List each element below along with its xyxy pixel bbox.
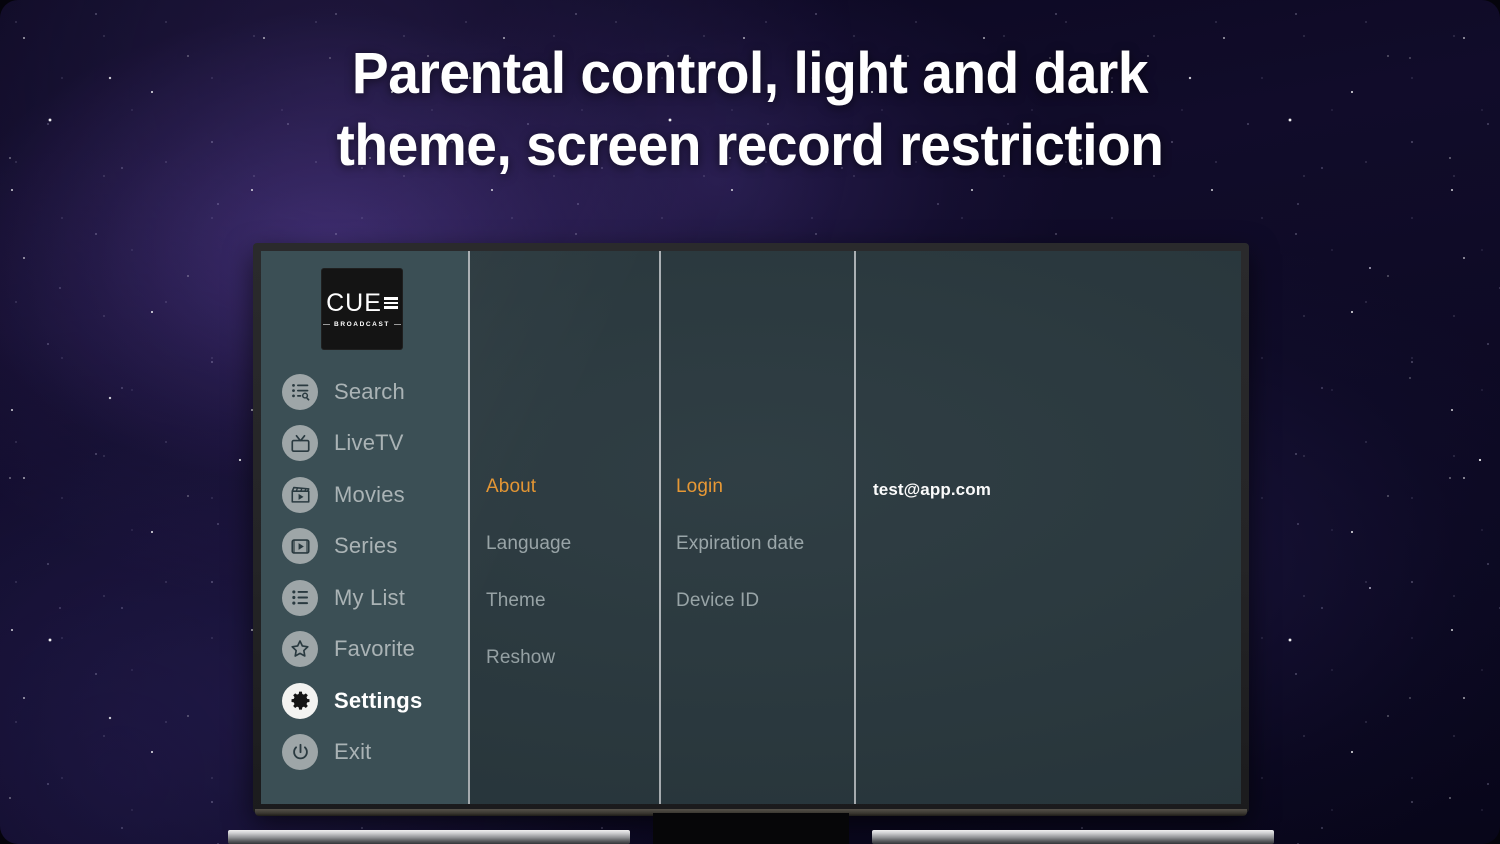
sidebar-item-label: My List — [334, 585, 405, 611]
sidebar-item-label: Series — [334, 533, 398, 559]
about-submenu-column: Login Expiration date Device ID — [659, 251, 854, 804]
television-icon — [282, 425, 318, 461]
clapperboard-icon — [282, 477, 318, 513]
video-play-icon — [282, 528, 318, 564]
sidebar-item-movies[interactable]: Movies — [261, 469, 468, 521]
logo-tagline-row: BROADCAST — [323, 321, 401, 328]
column-divider — [659, 251, 661, 804]
settings-menu-item-about[interactable]: About — [468, 477, 659, 496]
settings-menu-item-reshow[interactable]: Reshow — [468, 648, 659, 667]
sidebar-menu: Search LiveTV — [261, 366, 468, 778]
settings-menu-item-language[interactable]: Language — [468, 534, 659, 553]
settings-menu-item-theme[interactable]: Theme — [468, 591, 659, 610]
tv-screen: CUE BROADCAST — [261, 251, 1241, 804]
logo-tagline: BROADCAST — [334, 321, 390, 328]
about-menu-item-device-id[interactable]: Device ID — [659, 591, 854, 610]
app-logo: CUE BROADCAST — [321, 268, 403, 350]
sidebar-item-label: Movies — [334, 482, 405, 508]
sidebar-item-label: Favorite — [334, 636, 415, 662]
detail-column: test@app.com — [854, 251, 1241, 804]
column-divider — [854, 251, 856, 804]
tv-stand-foot-right — [872, 830, 1274, 844]
tv-stand-foot-left — [228, 830, 630, 844]
sidebar-item-label: Exit — [334, 739, 371, 765]
about-menu-item-login[interactable]: Login — [659, 477, 854, 496]
sidebar-item-label: Search — [334, 379, 405, 405]
tv-stand — [253, 813, 1249, 844]
power-icon — [282, 734, 318, 770]
gear-icon — [282, 683, 318, 719]
column-divider — [468, 251, 470, 804]
logo-letters: CUE — [326, 291, 382, 316]
star-icon — [282, 631, 318, 667]
list-icon — [282, 580, 318, 616]
settings-panel: About Language Theme Reshow Login Expira… — [468, 251, 1241, 804]
tv-stand-neck — [653, 813, 849, 844]
app-sidebar: CUE BROADCAST — [261, 251, 468, 804]
sidebar-item-livetv[interactable]: LiveTV — [261, 418, 468, 470]
sidebar-item-label: Settings — [334, 688, 422, 714]
screenshot-stage: Parental control, light and dark theme, … — [0, 0, 1500, 844]
sidebar-item-label: LiveTV — [334, 430, 404, 456]
sidebar-item-favorite[interactable]: Favorite — [261, 624, 468, 676]
television: CUE BROADCAST — [253, 243, 1249, 813]
headline-text: Parental control, light and dark theme, … — [38, 38, 1463, 182]
sidebar-item-search[interactable]: Search — [261, 366, 468, 418]
about-menu-item-expiration-date[interactable]: Expiration date — [659, 534, 854, 553]
logo-equals-mark — [384, 297, 398, 309]
sidebar-item-my-list[interactable]: My List — [261, 572, 468, 624]
sidebar-item-series[interactable]: Series — [261, 521, 468, 573]
login-email-value: test@app.com — [854, 480, 1241, 500]
sidebar-item-exit[interactable]: Exit — [261, 727, 468, 779]
settings-menu-column: About Language Theme Reshow — [468, 251, 659, 804]
logo-wordmark: CUE — [326, 291, 398, 316]
sidebar-item-settings[interactable]: Settings — [261, 675, 468, 727]
search-list-icon — [282, 374, 318, 410]
